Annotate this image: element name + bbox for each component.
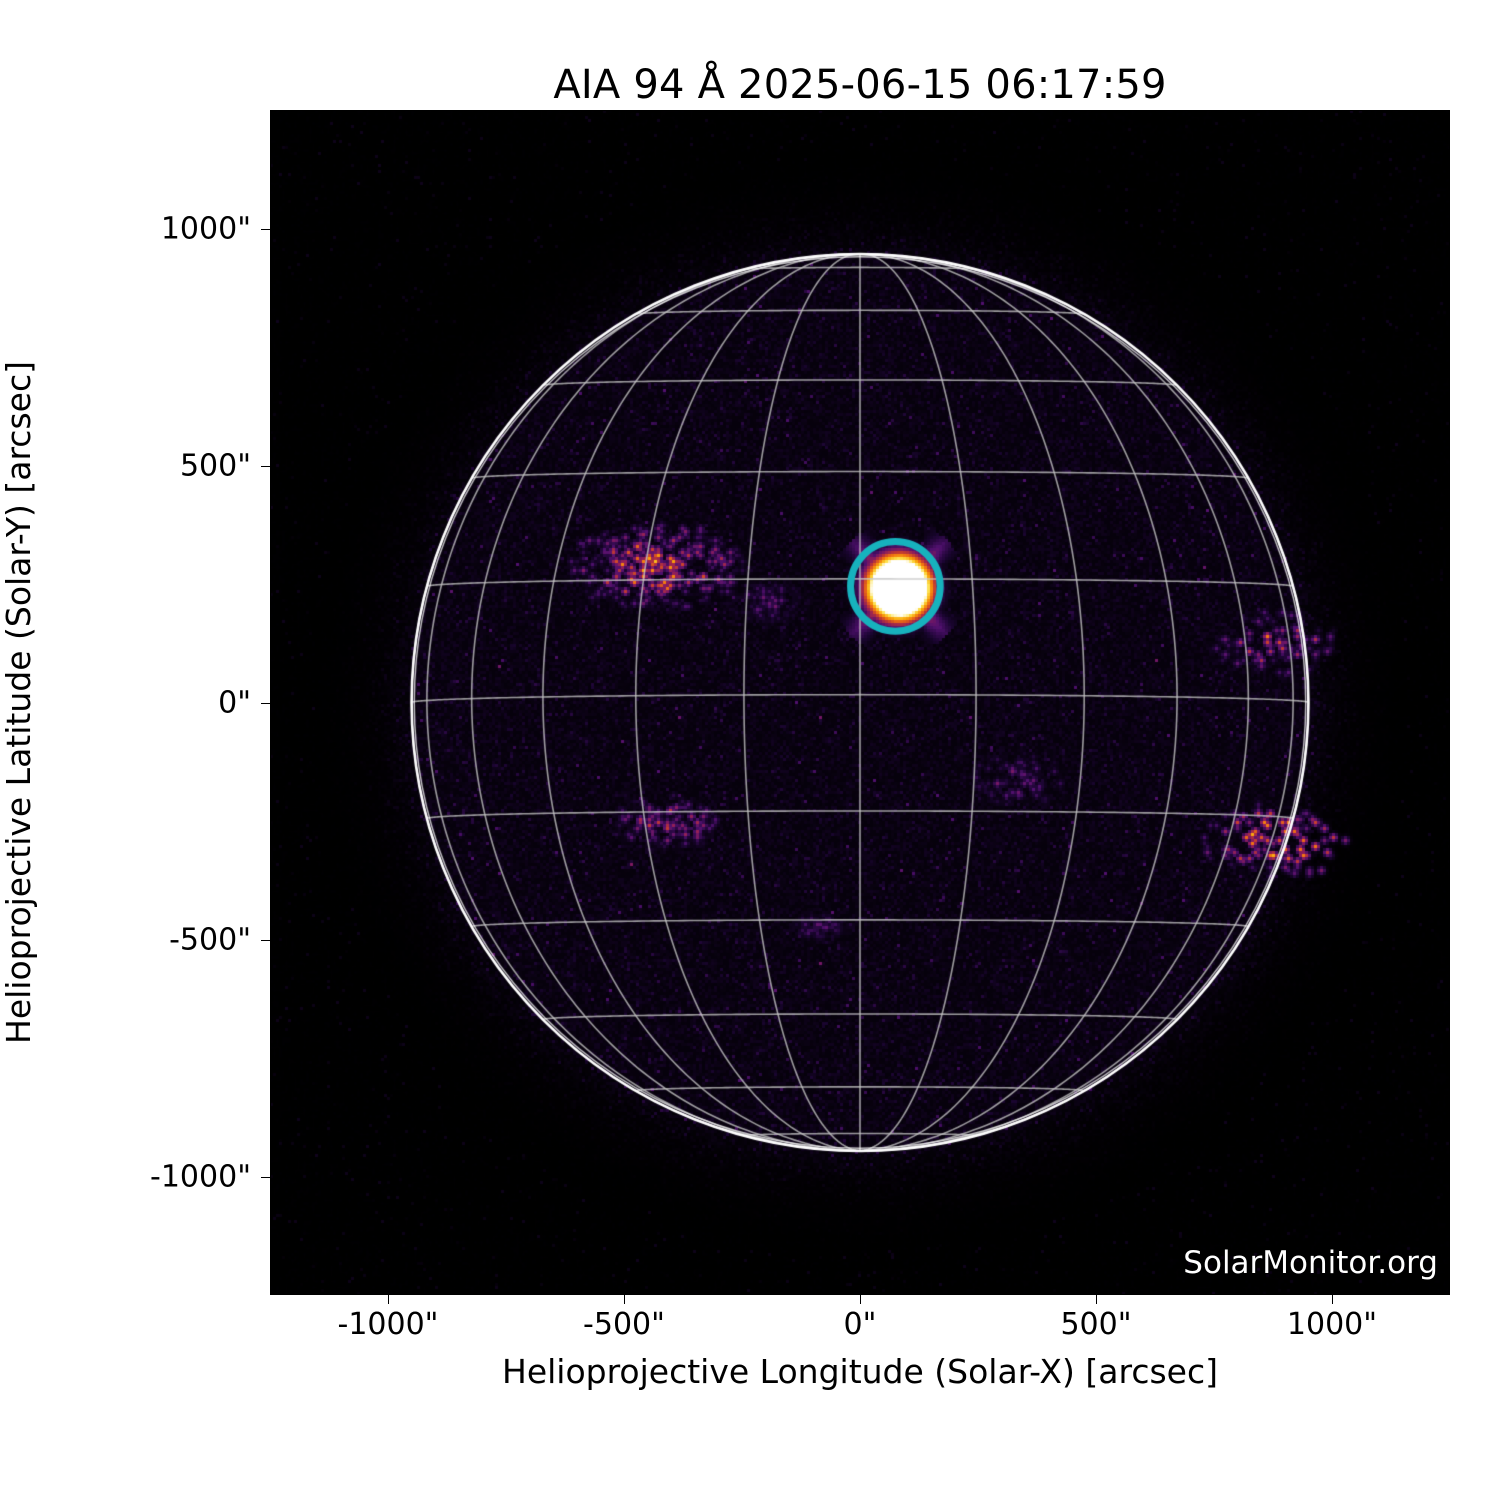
y-tick-label-4: 1000"	[161, 211, 251, 246]
y-tick-label-1: -500"	[169, 922, 251, 957]
x-tick-label-1: -500"	[583, 1307, 665, 1342]
x-tick-label-3: 500"	[1060, 1307, 1131, 1342]
y-tick-label-3: 500"	[180, 448, 251, 483]
x-tick-label-4: 1000"	[1287, 1307, 1377, 1342]
x-tick-4	[1332, 1295, 1333, 1304]
y-tick-4	[261, 229, 270, 230]
x-tick-label-0: -1000"	[338, 1307, 439, 1342]
x-tick-0	[388, 1295, 389, 1304]
solarmonitor-watermark: SolarMonitor.org	[1183, 1245, 1438, 1281]
x-tick-2	[860, 1295, 861, 1304]
y-tick-0	[261, 1177, 270, 1178]
x-tick-1	[624, 1295, 625, 1304]
y-tick-3	[261, 466, 270, 467]
solar-image-figure: AIA 94 Å 2025-06-15 06:17:59 SolarMonito…	[0, 0, 1500, 1500]
solar-image-plot-area[interactable]: SolarMonitor.org	[270, 110, 1450, 1295]
y-axis-label: Helioprojective Latitude (Solar-Y) [arcs…	[0, 110, 38, 1295]
y-tick-2	[261, 703, 270, 704]
y-tick-label-0: -1000"	[150, 1159, 251, 1194]
x-tick-3	[1096, 1295, 1097, 1304]
page-title: AIA 94 Å 2025-06-15 06:17:59	[270, 62, 1450, 108]
y-tick-label-2: 0"	[218, 685, 251, 720]
x-tick-label-2: 0"	[844, 1307, 877, 1342]
y-tick-1	[261, 940, 270, 941]
solar-disk-image[interactable]	[270, 110, 1450, 1295]
x-axis-label: Helioprojective Longitude (Solar-X) [arc…	[270, 1352, 1450, 1391]
